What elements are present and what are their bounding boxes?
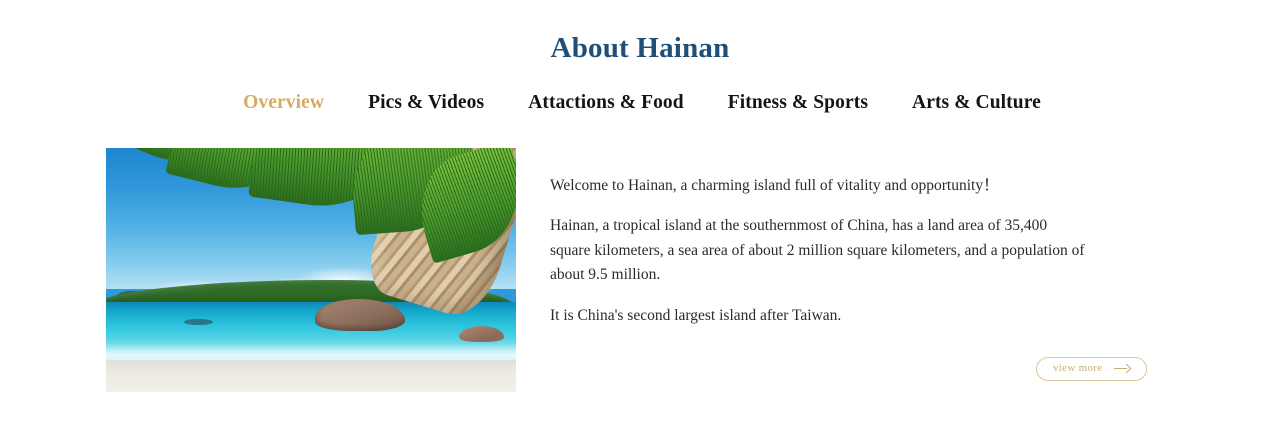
small-submerged-rock: [184, 319, 213, 325]
intro-paragraph: Welcome to Hainan, a charming island ful…: [550, 174, 1090, 198]
description-text-column: Welcome to Hainan, a charming island ful…: [550, 148, 1090, 328]
secondary-rock: [459, 326, 504, 342]
arrow-right-icon: [1114, 364, 1131, 373]
content-area: Welcome to Hainan, a charming island ful…: [0, 148, 1280, 392]
ranking-paragraph: It is China's second largest island afte…: [550, 304, 1090, 328]
primary-nav: Overview Pics & Videos Attactions & Food…: [0, 92, 1280, 114]
tab-arts-culture[interactable]: Arts & Culture: [912, 92, 1041, 114]
page-title: About Hainan: [0, 0, 1280, 65]
tab-overview[interactable]: Overview: [243, 92, 324, 114]
tab-attractions-food[interactable]: Attactions & Food: [528, 92, 684, 114]
view-more-label: view more: [1053, 363, 1102, 374]
sand-layer: [106, 360, 516, 392]
view-more-container: view more: [1036, 357, 1147, 381]
tab-fitness-sports[interactable]: Fitness & Sports: [728, 92, 868, 114]
geography-paragraph: Hainan, a tropical island at the souther…: [550, 214, 1090, 287]
tab-pics-videos[interactable]: Pics & Videos: [368, 92, 484, 114]
hero-beach-image: [106, 148, 516, 392]
view-more-button[interactable]: view more: [1036, 357, 1147, 381]
